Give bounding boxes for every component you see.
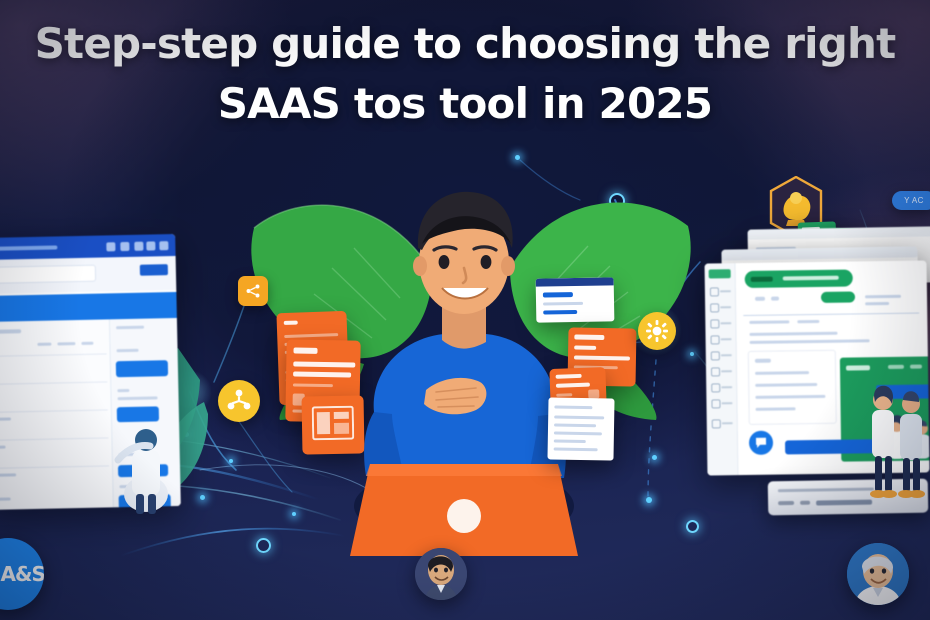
card-line (543, 302, 583, 306)
network-node-dot (229, 459, 233, 463)
window-brand-placeholder (0, 245, 57, 251)
chat-meta (117, 349, 139, 352)
card-heading (755, 359, 771, 363)
table-row[interactable] (0, 381, 108, 385)
avatar-center[interactable] (415, 548, 467, 600)
cart-icon[interactable] (120, 242, 129, 251)
promo-line (888, 365, 904, 369)
stat-line (865, 302, 889, 305)
card-line (756, 407, 796, 411)
card-line (556, 383, 590, 388)
avatar-face (847, 543, 909, 605)
menu-icon[interactable] (159, 241, 168, 250)
card-label (284, 321, 298, 325)
card-line (574, 356, 630, 361)
page-title: Step-step guide to choosing the right SA… (0, 14, 930, 133)
stat-line (865, 295, 901, 299)
card-line (574, 346, 596, 350)
title-line-2: SAAS tos tool in 2025 (14, 74, 916, 134)
card-line (755, 395, 825, 399)
card-line (556, 393, 572, 397)
gear-glyph (645, 319, 669, 343)
card-label (574, 335, 604, 341)
sidebar-item-icon[interactable] (711, 367, 720, 376)
divider (743, 313, 919, 316)
bell-icon[interactable] (106, 242, 115, 251)
settings-icon[interactable] (134, 242, 143, 251)
banner-text (751, 277, 773, 282)
illustration-person-left (110, 398, 180, 516)
sidebar[interactable] (705, 263, 739, 475)
sidebar-item-icon[interactable] (710, 319, 719, 328)
table-header-label (0, 329, 21, 334)
chat-meta (118, 389, 130, 392)
sidebar-item-label (721, 338, 732, 340)
table-row[interactable] (0, 437, 109, 441)
share-badge-icon[interactable] (238, 276, 268, 306)
sidebar-item-label (722, 422, 733, 424)
sidebar-item-icon[interactable] (712, 419, 721, 428)
screen-line (778, 488, 874, 493)
card-line (755, 371, 809, 375)
cta-label: Y AC (904, 196, 924, 205)
network-node-ring (686, 520, 699, 533)
sidebar-item-label (721, 386, 732, 388)
sidebar-item-icon[interactable] (710, 303, 719, 312)
user-icon[interactable] (146, 241, 155, 250)
sidebar-item-label (721, 402, 732, 404)
network-node-dot (652, 455, 657, 460)
avatar-right[interactable] (847, 543, 909, 605)
network-node-dot (515, 155, 520, 160)
sidebar-item-label (720, 322, 731, 324)
table-row[interactable] (0, 465, 109, 469)
screen-line (778, 501, 794, 505)
network-glyph (226, 388, 252, 414)
network-node-ring (256, 538, 271, 553)
screen-line (816, 500, 872, 506)
stat-line (771, 297, 779, 301)
table-cell (0, 446, 6, 449)
window-titlebar (721, 246, 917, 260)
section-line (750, 339, 870, 344)
table-cell (0, 473, 16, 477)
table-row[interactable] (0, 353, 107, 357)
card-titlebar (536, 277, 614, 286)
chat-bubble (116, 360, 168, 377)
avatar-badge-text: SA&S (0, 562, 44, 586)
sidebar-item-label (721, 354, 732, 356)
gear-badge-icon[interactable] (638, 312, 676, 350)
stat-line (755, 297, 765, 301)
network-node-dot (646, 497, 652, 503)
content-card[interactable] (748, 350, 837, 425)
primary-action-button[interactable] (140, 264, 168, 276)
search-input[interactable] (0, 265, 96, 284)
screen-line (800, 501, 810, 505)
card-heading (543, 292, 573, 298)
table-cell (0, 497, 11, 500)
table-filter[interactable] (81, 342, 93, 345)
card-line (554, 448, 598, 452)
section-line (750, 332, 838, 336)
cta-pill-button[interactable]: Y AC (892, 191, 930, 210)
card-heading (554, 406, 592, 410)
sidebar-item-label (720, 306, 731, 308)
floating-card-white[interactable] (536, 277, 615, 322)
sidebar-item-icon[interactable] (711, 351, 720, 360)
poster-canvas: Y AC (0, 0, 930, 620)
sidebar-item-icon[interactable] (711, 335, 720, 344)
card-line (755, 383, 817, 387)
card-line (293, 383, 333, 387)
sidebar-item-label (721, 370, 732, 372)
banner-text (783, 276, 839, 281)
sidebar-item-icon[interactable] (710, 287, 719, 296)
table-cell (0, 417, 11, 420)
sidebar-item-label (720, 290, 731, 292)
floating-card-white[interactable] (547, 397, 614, 460)
sidebar-item-icon[interactable] (711, 383, 720, 392)
card-line (554, 416, 604, 420)
banner-action-button[interactable] (821, 291, 855, 302)
window-titlebar (748, 226, 930, 239)
avatar-face (415, 548, 467, 600)
section-label (797, 320, 819, 323)
card-line (554, 440, 586, 444)
sidebar-logo-button[interactable] (709, 269, 731, 278)
table-filter[interactable] (37, 343, 51, 346)
illustration-people-right (866, 370, 930, 500)
illustration-man-with-laptop (330, 176, 598, 556)
table-row[interactable] (0, 409, 108, 413)
chat-icon (755, 437, 767, 449)
chat-title (116, 326, 144, 330)
network-node-dot (292, 512, 296, 516)
card-label (556, 374, 582, 379)
section-label (749, 320, 789, 324)
promo-line (910, 365, 922, 369)
card-line (543, 310, 577, 315)
share-glyph (244, 282, 262, 300)
table-filter[interactable] (57, 342, 75, 345)
network-badge-icon[interactable] (218, 380, 260, 422)
card-line (554, 424, 596, 428)
card-line (554, 432, 602, 436)
sidebar-item-icon[interactable] (711, 399, 720, 408)
card-label (293, 347, 317, 353)
title-line-1: Step-step guide to choosing the right (35, 19, 896, 68)
